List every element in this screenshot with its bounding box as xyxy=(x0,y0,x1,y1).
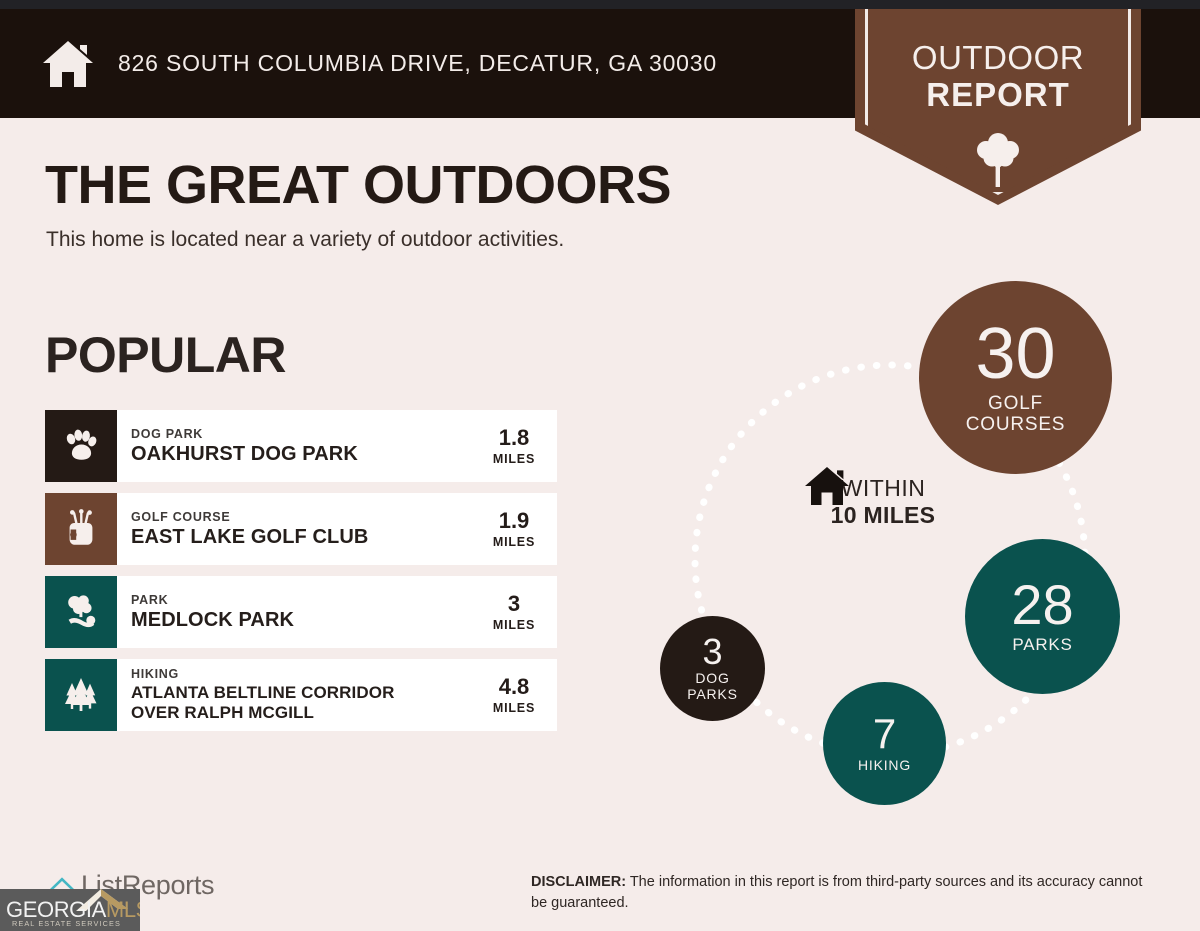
list-item-distance-group: 1.8 MILES xyxy=(479,410,557,482)
home-icon xyxy=(40,39,96,89)
bubble-dog-parks: 3 DOG PARKS xyxy=(660,616,765,721)
badge-title-line2: REPORT xyxy=(855,77,1141,114)
bubble-label: DOG PARKS xyxy=(687,671,737,701)
list-item[interactable]: DOG PARK OAKHURST DOG PARK 1.8 MILES xyxy=(45,410,557,482)
list-item-icon-tile xyxy=(45,410,117,482)
georgia-mls-logo: GEORGIAMLS REAL ESTATE SERVICES xyxy=(0,889,140,931)
bubble-parks: 28 PARKS xyxy=(965,539,1120,694)
list-item-text: GOLF COURSE EAST LAKE GOLF CLUB xyxy=(117,493,479,565)
list-item-distance: 1.8 xyxy=(499,427,530,449)
list-item-name-line2: OVER RALPH MCGILL xyxy=(131,703,479,723)
list-item-distance-group: 3 MILES xyxy=(479,576,557,648)
mls-tagline: REAL ESTATE SERVICES xyxy=(12,919,121,928)
list-item-name: OAKHURST DOG PARK xyxy=(131,443,479,465)
list-item-text: HIKING ATLANTA BELTLINE CORRIDOR OVER RA… xyxy=(117,659,479,731)
list-item-icon-tile xyxy=(45,493,117,565)
bubble-label-line1: GOLF xyxy=(966,394,1066,415)
list-item[interactable]: PARK MEDLOCK PARK 3 MILES xyxy=(45,576,557,648)
bubble-value: 30 xyxy=(975,320,1055,388)
list-item-name: MEDLOCK PARK xyxy=(131,609,479,631)
bubble-label: PARKS xyxy=(1012,636,1072,654)
bubble-value: 3 xyxy=(702,635,722,669)
popular-heading: POPULAR xyxy=(45,326,286,384)
popular-list: DOG PARK OAKHURST DOG PARK 1.8 MILES xyxy=(45,410,557,742)
disclaimer: DISCLAIMER: The information in this repo… xyxy=(531,872,1161,914)
list-item-category: GOLF COURSE xyxy=(131,510,479,526)
badge-title: OUTDOOR REPORT xyxy=(855,40,1141,114)
list-item-category: DOG PARK xyxy=(131,427,479,443)
list-item-text: PARK MEDLOCK PARK xyxy=(117,576,479,648)
list-item-icon-tile xyxy=(45,659,117,731)
bubble-hiking: 7 HIKING xyxy=(823,682,946,805)
list-item-distance-group: 4.8 MILES xyxy=(479,659,557,731)
list-item-name: ATLANTA BELTLINE CORRIDOR OVER RALPH MCG… xyxy=(131,683,479,722)
outdoor-report-page: 826 SOUTH COLUMBIA DRIVE, DECATUR, GA 30… xyxy=(0,0,1200,931)
bubble-label-line1: DOG xyxy=(687,671,737,686)
bubble-value: 28 xyxy=(1011,578,1073,631)
list-item-name-line1: ATLANTA BELTLINE CORRIDOR xyxy=(131,683,479,703)
list-item-distance: 3 xyxy=(508,593,520,615)
chart-center-group: WITHIN 10 MILES xyxy=(803,465,963,529)
list-item[interactable]: GOLF COURSE EAST LAKE GOLF CLUB 1.9 MILE… xyxy=(45,493,557,565)
list-item-category: PARK xyxy=(131,593,479,609)
tree-icon xyxy=(972,130,1024,190)
bubble-value: 7 xyxy=(873,714,896,754)
bubble-golf-courses: 30 GOLF COURSES xyxy=(919,281,1112,474)
badge-title-line1: OUTDOOR xyxy=(855,40,1141,77)
top-strip xyxy=(0,0,1200,9)
list-item-distance-group: 1.9 MILES xyxy=(479,493,557,565)
list-item-category: HIKING xyxy=(131,667,479,683)
list-item-distance-unit: MILES xyxy=(493,618,535,632)
list-item-distance: 4.8 xyxy=(499,676,530,698)
list-item-text: DOG PARK OAKHURST DOG PARK xyxy=(117,410,479,482)
list-item-distance-unit: MILES xyxy=(493,535,535,549)
list-item[interactable]: HIKING ATLANTA BELTLINE CORRIDOR OVER RA… xyxy=(45,659,557,731)
list-item-distance: 1.9 xyxy=(499,510,530,532)
within-10-miles-bubble-chart: 30 GOLF COURSES 28 PARKS 7 HIKING 3 DOG … xyxy=(620,270,1180,830)
pine-trees-icon xyxy=(61,675,101,715)
list-item-name: EAST LAKE GOLF CLUB xyxy=(131,526,479,548)
list-item-distance-unit: MILES xyxy=(493,701,535,715)
header-content: 826 SOUTH COLUMBIA DRIVE, DECATUR, GA 30… xyxy=(40,9,717,118)
list-item-icon-tile xyxy=(45,576,117,648)
bubble-label: HIKING xyxy=(858,758,911,773)
park-trees-icon xyxy=(61,592,101,632)
page-subtitle: This home is located near a variety of o… xyxy=(46,228,564,252)
paw-print-icon xyxy=(61,426,101,466)
bubble-label-line2: PARKS xyxy=(687,687,737,702)
bubble-label: GOLF COURSES xyxy=(966,394,1066,435)
list-item-distance-unit: MILES xyxy=(493,452,535,466)
bubble-label-line2: COURSES xyxy=(966,415,1066,436)
disclaimer-label: DISCLAIMER: xyxy=(531,874,626,890)
property-address: 826 SOUTH COLUMBIA DRIVE, DECATUR, GA 30… xyxy=(118,50,717,77)
golf-bag-icon xyxy=(61,509,101,549)
page-title: THE GREAT OUTDOORS xyxy=(45,154,671,216)
